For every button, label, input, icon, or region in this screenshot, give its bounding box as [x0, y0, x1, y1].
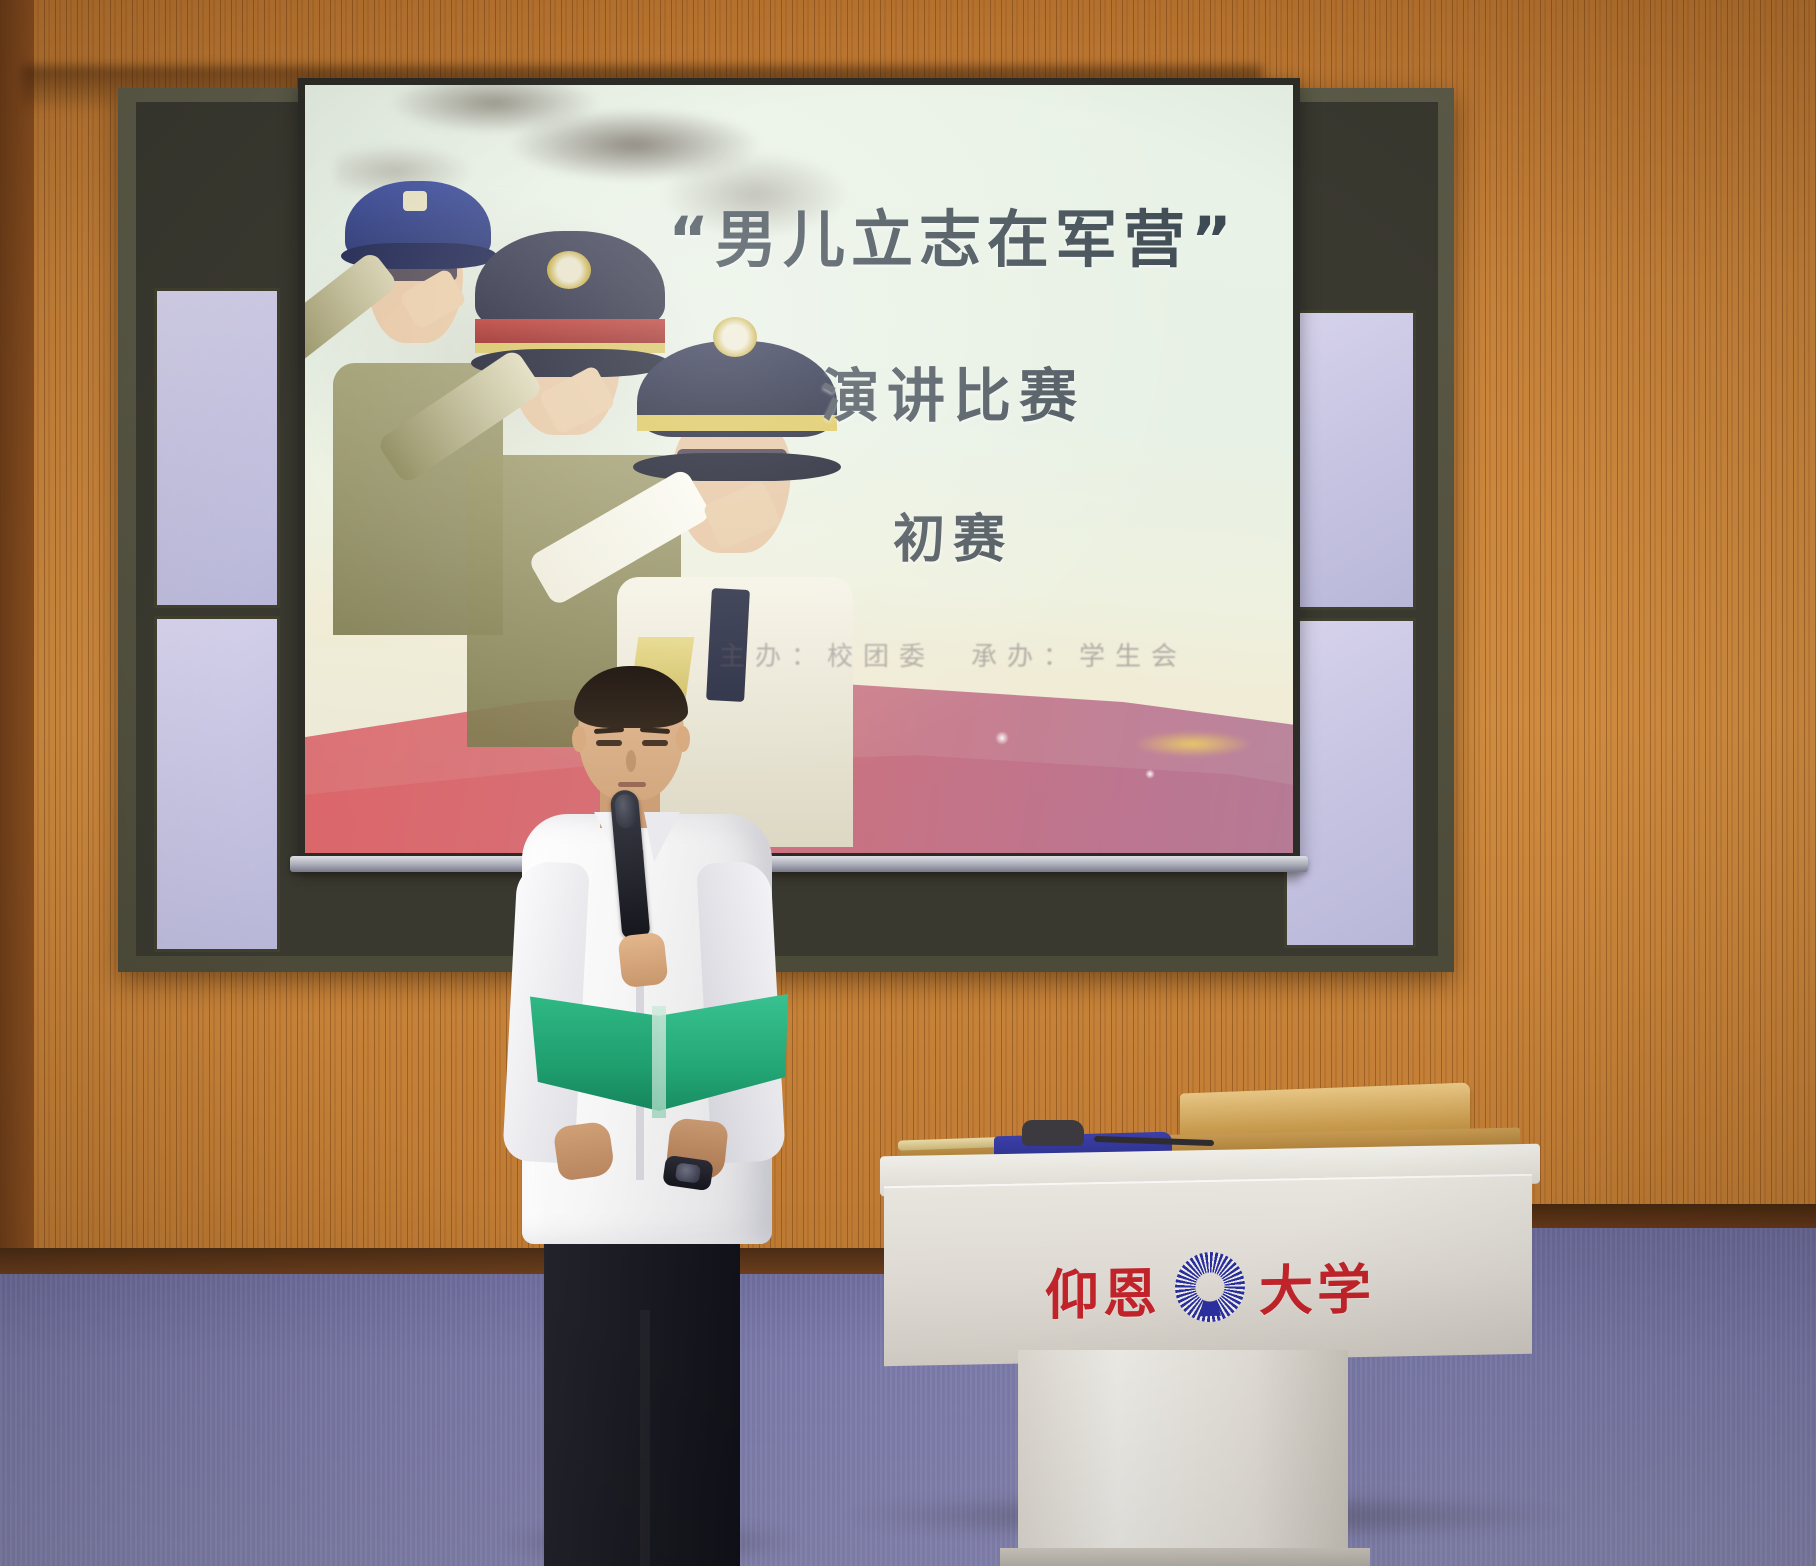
- wall-left-shadow: [0, 0, 34, 1310]
- speaker-nose: [626, 750, 636, 772]
- whiteboard-panel-top-right: [1284, 310, 1416, 610]
- whiteboard-panel-bottom-left: [154, 616, 280, 952]
- speaker-collar-right: [644, 812, 680, 862]
- green-folder: [534, 994, 784, 1134]
- flag-sparkle: [995, 731, 1009, 745]
- speaker-mouth: [618, 782, 646, 787]
- folder-spine: [652, 1006, 666, 1118]
- slide-text-block: “男儿立志在军营” 演讲比赛 初赛 主办：校团委 承办：学生会: [643, 189, 1263, 673]
- screen-roller-shadow: [300, 872, 1300, 882]
- folder-left-leaf: [530, 994, 660, 1116]
- speaker-hand-holding-microphone: [617, 932, 668, 989]
- screen-roller-bar: [290, 856, 1308, 872]
- speaker-trousers: [544, 1220, 740, 1566]
- slide-organizer-line: 主办：校团委 承办：学生会: [643, 636, 1263, 673]
- microphone-base: [1022, 1120, 1084, 1146]
- speaker-ear-right: [676, 726, 690, 752]
- lectern-podium: 仰恩 大学: [880, 1128, 1540, 1566]
- slide-stage-label: 初赛: [643, 497, 1263, 572]
- photo-scene: “男儿立志在军营” 演讲比赛 初赛 主办：校团委 承办：学生会 仰恩 大学: [0, 0, 1816, 1566]
- speaker-person: [516, 672, 776, 1566]
- flag-sparkle: [1145, 769, 1155, 779]
- projection-screen: “男儿立志在军营” 演讲比赛 初赛 主办：校团委 承办：学生会: [305, 85, 1293, 853]
- university-logo: 仰恩 大学: [1030, 1243, 1390, 1332]
- projection-screen-frame: “男儿立志在军营” 演讲比赛 初赛 主办：校团委 承办：学生会: [298, 78, 1300, 860]
- folder-right-leaf: [658, 994, 788, 1116]
- logo-text-right: 大学: [1259, 1244, 1375, 1325]
- speaker-eye-right: [642, 740, 668, 746]
- sunburst-emblem-icon: [1175, 1251, 1245, 1322]
- flag-gold-glow: [1133, 731, 1253, 757]
- podium-base: [1000, 1548, 1370, 1566]
- slide-subtitle: 演讲比赛: [643, 349, 1263, 433]
- speaker-eye-left: [596, 740, 622, 746]
- podium-pedestal: [1018, 1350, 1348, 1566]
- whiteboard-panel-bottom-right: [1284, 618, 1416, 948]
- wristwatch: [662, 1155, 714, 1191]
- speaker-hair: [574, 666, 688, 728]
- whiteboard-panel-top-left: [154, 288, 280, 608]
- logo-text-left: 仰恩: [1045, 1248, 1161, 1329]
- speaker-ear-left: [572, 726, 586, 752]
- slide-headline: “男儿立志在军营”: [643, 189, 1263, 279]
